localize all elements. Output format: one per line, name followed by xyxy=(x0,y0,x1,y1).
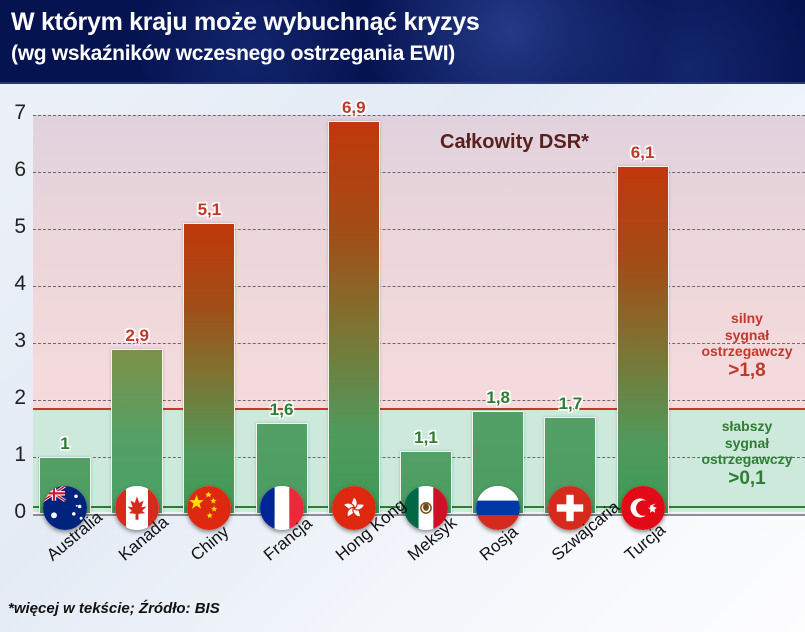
y-axis-tick-label: 3 xyxy=(0,329,26,353)
legend-strong-value: >1,8 xyxy=(691,360,803,382)
y-axis-tick-label: 2 xyxy=(0,386,26,410)
legend-strong-line2: sygnał xyxy=(691,327,803,344)
legend-weak-value: >0,1 xyxy=(691,468,803,490)
y-axis-tick-label: 4 xyxy=(0,272,26,296)
bar-chiny[interactable] xyxy=(183,223,235,514)
gridline xyxy=(33,229,805,230)
series-label: Całkowity DSR* xyxy=(440,131,589,154)
bar-hong-kong[interactable] xyxy=(328,121,380,514)
header-divider xyxy=(0,82,805,84)
chart-plot-area xyxy=(33,115,805,515)
legend-weak-line2: sygnał xyxy=(691,435,803,452)
y-axis-tick-label: 7 xyxy=(0,101,26,125)
bar-value-label: 6,1 xyxy=(608,143,678,163)
source-note: *więcej w tekście; Źródło: BIS xyxy=(8,600,220,617)
x-axis-label-chiny: Chiny xyxy=(187,522,233,565)
bar-value-label: 2,9 xyxy=(102,326,172,346)
bar-value-label: 1,1 xyxy=(391,428,461,448)
gridline xyxy=(33,115,805,116)
header-glow-decoration xyxy=(560,0,805,82)
bar-value-label: 1,6 xyxy=(247,400,317,420)
legend-weak-warning: słabszy sygnał ostrzegawczy >0,1 xyxy=(691,418,803,490)
legend-strong-line1: silny xyxy=(691,310,803,327)
gridline xyxy=(33,172,805,173)
legend-weak-line3: ostrzegawczy xyxy=(691,451,803,468)
chart-subtitle: (wg wskaźników wczesnego ostrzegania EWI… xyxy=(11,42,455,66)
bar-value-label: 1,8 xyxy=(463,388,533,408)
bar-value-label: 1,7 xyxy=(535,394,605,414)
legend-strong-line3: ostrzegawczy xyxy=(691,343,803,360)
bar-turcja[interactable] xyxy=(617,166,669,514)
bar-value-label: 1 xyxy=(30,434,100,454)
legend-strong-warning: silny sygnał ostrzegawczy >1,8 xyxy=(691,310,803,382)
gridline xyxy=(33,286,805,287)
chart-title: W którym kraju może wybuchnąć kryzys xyxy=(11,8,480,37)
y-axis-tick-label: 6 xyxy=(0,158,26,182)
flag-china-icon xyxy=(187,486,231,530)
bar-value-label: 5,1 xyxy=(174,200,244,220)
y-axis-tick-label: 1 xyxy=(0,443,26,467)
y-axis-tick-label: 5 xyxy=(0,215,26,239)
legend-weak-line1: słabszy xyxy=(691,418,803,435)
y-axis-tick-label: 0 xyxy=(0,500,26,524)
bar-value-label: 6,9 xyxy=(319,98,389,118)
flag-russia-icon xyxy=(476,486,520,530)
